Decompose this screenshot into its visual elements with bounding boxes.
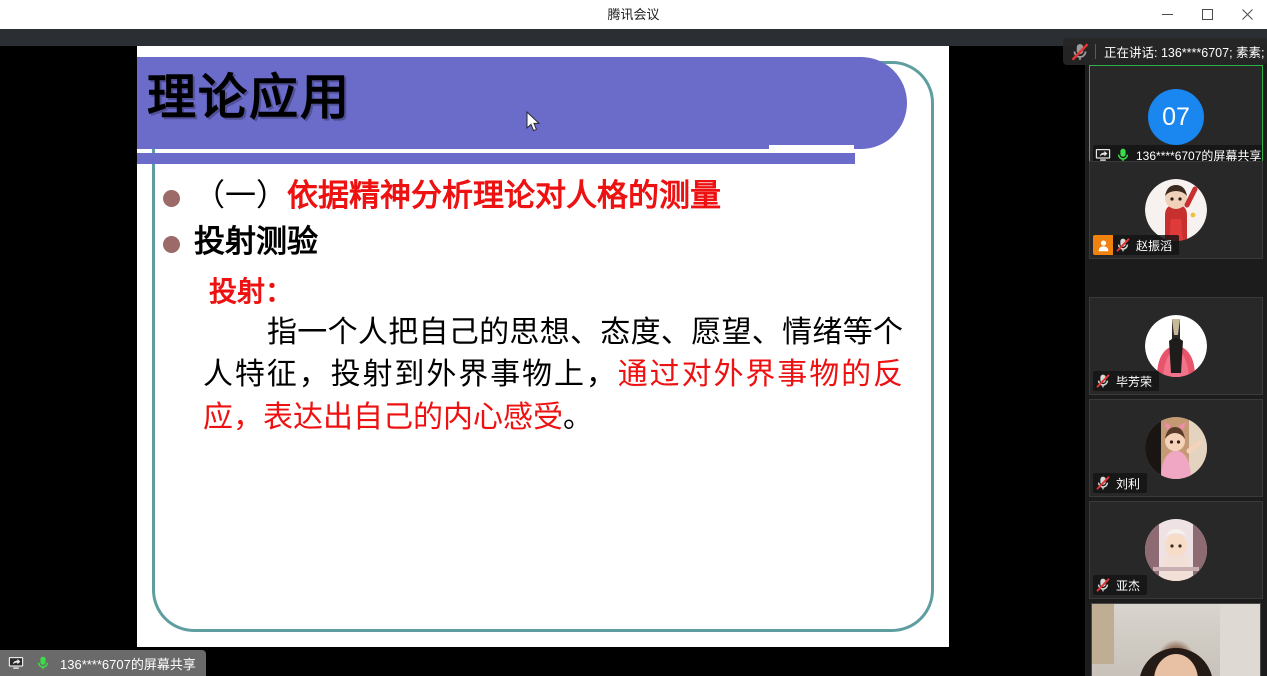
avatar bbox=[1145, 417, 1207, 479]
window-controls bbox=[1147, 0, 1267, 29]
wall-right bbox=[1220, 604, 1260, 676]
bullet-2-black-text: 投射测验 bbox=[194, 224, 318, 260]
participant-tile[interactable]: 亚杰 bbox=[1089, 501, 1263, 599]
maximize-icon bbox=[1202, 9, 1213, 20]
bullet-1-black-text: （一） bbox=[194, 178, 287, 214]
minimize-icon bbox=[1162, 9, 1173, 20]
avatar-artwork-icon bbox=[1145, 179, 1207, 241]
participant-footer: 刘利 bbox=[1093, 473, 1147, 493]
title-underline bbox=[769, 145, 854, 150]
participants-panel[interactable]: 07 136****6707的屏幕共享 bbox=[1085, 46, 1267, 676]
title-bar: 腾讯会议 bbox=[0, 0, 1267, 29]
avatar: 07 bbox=[1148, 89, 1204, 145]
bullet-1-red-text: 依据精神分析理论对人格的测量 bbox=[287, 178, 721, 214]
participant-tile[interactable]: 毕芳荣 bbox=[1089, 297, 1263, 395]
host-badge bbox=[1093, 235, 1113, 255]
participant-footer: 亚杰 bbox=[1093, 575, 1147, 595]
participant-tile[interactable]: 素素 bbox=[1091, 603, 1261, 676]
slide-bullet-2: 投射测验 bbox=[163, 222, 908, 264]
avatar-artwork-icon bbox=[1145, 417, 1207, 479]
tencent-meeting-window: 腾讯会议 理论应用 bbox=[0, 0, 1267, 676]
close-icon bbox=[1242, 9, 1253, 20]
screen-share-icon bbox=[8, 655, 24, 671]
minimize-button[interactable] bbox=[1147, 0, 1187, 29]
title-accent-strip bbox=[137, 153, 855, 164]
slide-body: （一）依据精神分析理论对人格的测量 投射测验 投射： 指一个人把自己的思想、态度… bbox=[163, 176, 908, 439]
wall-left bbox=[1092, 604, 1114, 664]
participant-tile[interactable]: 赵振滔 bbox=[1089, 161, 1263, 259]
microphone-muted-icon bbox=[1069, 42, 1091, 62]
microphone-muted-icon bbox=[1095, 475, 1111, 491]
paragraph-tail: 。 bbox=[563, 400, 593, 435]
avatar bbox=[1145, 519, 1207, 581]
avatar-initials: 07 bbox=[1162, 103, 1190, 132]
presentation-slide: 理论应用 （一）依据精神分析理论对人格的测量 投射测验 投射： 指一个人把自己的… bbox=[137, 46, 949, 647]
slide-title-banner: 理论应用 bbox=[137, 57, 907, 149]
microphone-muted-icon bbox=[1115, 237, 1131, 253]
window-title: 腾讯会议 bbox=[0, 0, 1267, 29]
avatar bbox=[1145, 315, 1207, 377]
participant-name: 赵振滔 bbox=[1133, 237, 1179, 254]
participant-name: 刘利 bbox=[1113, 475, 1147, 492]
participant-name: 亚杰 bbox=[1113, 577, 1147, 594]
close-button[interactable] bbox=[1227, 0, 1267, 29]
participant-tile[interactable]: 07 136****6707的屏幕共享 bbox=[1089, 65, 1263, 169]
microphone-icon bbox=[35, 655, 51, 671]
slide-subheading: 投射： bbox=[209, 270, 908, 310]
slide-paragraph: 指一个人把自己的思想、态度、愿望、情绪等个人特征，投射到外界事物上，通过对外界事… bbox=[203, 312, 903, 440]
mouse-cursor-icon bbox=[526, 111, 542, 133]
screen-share-status-bar: 136****6707的屏幕共享 bbox=[0, 650, 206, 676]
person-icon bbox=[1097, 239, 1110, 252]
slide-bullet-1: （一）依据精神分析理论对人格的测量 bbox=[163, 176, 908, 218]
video-feed bbox=[1092, 604, 1260, 676]
active-speaker-banner: 正在讲话: 136****6707; 素素; bbox=[1063, 38, 1267, 65]
maximize-button[interactable] bbox=[1187, 0, 1227, 29]
participant-name: 毕芳荣 bbox=[1113, 373, 1159, 390]
bullet-dot-icon bbox=[163, 236, 180, 253]
avatar-artwork-icon bbox=[1145, 519, 1207, 581]
participant-footer: 毕芳荣 bbox=[1093, 371, 1159, 391]
active-speaker-text: 正在讲话: 136****6707; 素素; bbox=[1104, 42, 1265, 61]
bullet-dot-icon bbox=[163, 190, 180, 207]
microphone-muted-icon bbox=[1095, 373, 1111, 389]
avatar bbox=[1145, 179, 1207, 241]
avatar-artwork-icon bbox=[1145, 315, 1207, 377]
banner-divider bbox=[1095, 44, 1096, 59]
participant-tile[interactable]: 刘利 bbox=[1089, 399, 1263, 497]
participant-footer: 赵振滔 bbox=[1093, 235, 1179, 255]
slide-title: 理论应用 bbox=[147, 73, 351, 122]
share-status-label: 136****6707的屏幕共享 bbox=[60, 654, 196, 673]
microphone-muted-icon bbox=[1095, 577, 1111, 593]
